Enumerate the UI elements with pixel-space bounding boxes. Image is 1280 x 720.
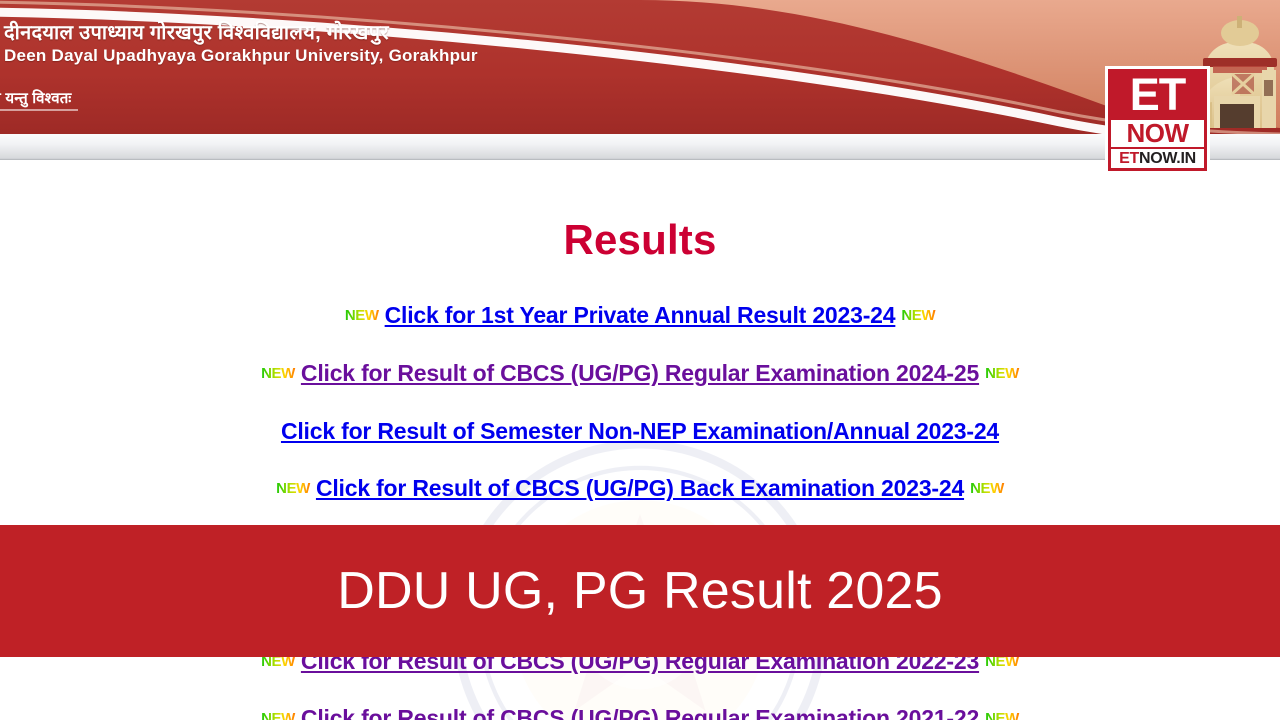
etnow-logo-et-text: ET — [1111, 72, 1204, 118]
new-badge-icon: NEW — [979, 365, 1025, 382]
university-title-block: दीनदयाल उपाध्याय गोरखपुर विश्वविद्यालय, … — [0, 22, 900, 67]
header-decorative-graphic — [0, 0, 1280, 134]
page-title: Results — [0, 216, 1280, 264]
result-link-row: NEW Click for Result of CBCS (UG/PG) Bac… — [0, 475, 1280, 502]
etnow-domain-prefix: ET — [1119, 150, 1139, 167]
result-link-row: NEW Click for Result of CBCS (UG/PG) Reg… — [0, 360, 1280, 387]
new-badge-icon: NEW — [270, 480, 316, 497]
new-badge-icon: NEW — [979, 710, 1025, 720]
result-link-cbcs-regular-2021-22[interactable]: Click for Result of CBCS (UG/PG) Regular… — [301, 705, 979, 720]
result-link-semester-non-nep-annual-2023-24[interactable]: Click for Result of Semester Non-NEP Exa… — [281, 418, 999, 445]
result-link-row: NEW Click for Result of CBCS (UG/PG) Reg… — [0, 705, 1280, 720]
university-name-english: Deen Dayal Upadhyaya Gorakhpur Universit… — [0, 46, 900, 66]
new-badge-icon: NEW — [964, 480, 1010, 497]
etnow-logo: ET NOW ETNOW.IN — [1105, 66, 1210, 174]
result-link-row: Click for Result of Semester Non-NEP Exa… — [0, 418, 1280, 445]
new-badge-icon: NEW — [255, 710, 301, 720]
etnow-logo-now-text: NOW — [1111, 120, 1204, 148]
etnow-domain-label: ETNOW.IN — [1119, 151, 1196, 167]
navigation-strip[interactable] — [0, 134, 1280, 160]
headline-banner: DDU UG, PG Result 2025 — [0, 525, 1280, 657]
site-header-banner: दीनदयाल उपाध्याय गोरखपुर विश्वविद्यालय, … — [0, 0, 1280, 134]
etnow-logo-domain-text: ETNOW.IN — [1111, 149, 1204, 168]
result-link-cbcs-regular-2024-25[interactable]: Click for Result of CBCS (UG/PG) Regular… — [301, 360, 979, 387]
new-badge-icon: NEW — [339, 307, 385, 324]
result-link-row: NEW Click for 1st Year Private Annual Re… — [0, 302, 1280, 329]
new-badge-icon: NEW — [255, 365, 301, 382]
result-link-1st-year-private-annual-2023-24[interactable]: Click for 1st Year Private Annual Result… — [385, 302, 896, 329]
headline-text: DDU UG, PG Result 2025 — [337, 561, 943, 621]
result-link-cbcs-back-examination-2023-24[interactable]: Click for Result of CBCS (UG/PG) Back Ex… — [316, 475, 964, 502]
etnow-now-label: NOW — [1126, 120, 1188, 146]
university-motto: ो यन्तु विश्वतः — [0, 88, 78, 111]
university-name-hindi: दीनदयाल उपाध्याय गोरखपुर विश्वविद्यालय, … — [0, 22, 900, 44]
etnow-domain-suffix: NOW.IN — [1139, 150, 1196, 167]
new-badge-icon: NEW — [895, 307, 941, 324]
